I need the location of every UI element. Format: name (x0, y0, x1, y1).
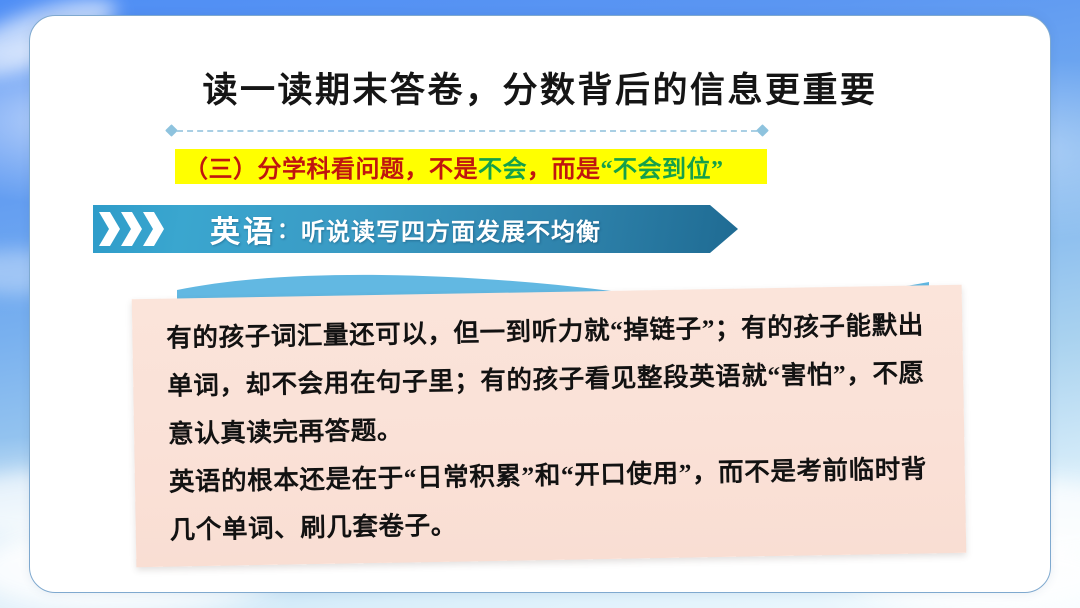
subject-banner: 英语 ： 听说读写四方面发展不均衡 (93, 205, 738, 253)
title-divider (167, 126, 767, 136)
banner-colon: ： (276, 213, 301, 245)
slide-canvas: 读一读期末答卷，分数背后的信息更重要 （三）分学科看问题，不是 不会 ，而是 “… (0, 0, 1080, 608)
banner-subject: 英语 (210, 207, 276, 251)
divider-dashed-line (177, 130, 757, 132)
page-title: 读一读期末答卷，分数背后的信息更重要 (30, 62, 1050, 113)
banner-description: 听说读写四方面发展不均衡 (301, 212, 601, 247)
subtitle-highlight-1: 不会 (478, 149, 527, 184)
body-paragraph-2: 英语的根本还是在于“日常积累”和“开口使用”，而不是考前临时背几个单词、刷几套卷… (169, 445, 945, 554)
subtitle-part-1: （三）分学科看问题，不是 (184, 149, 478, 184)
divider-cap-right-icon (756, 124, 769, 137)
content-card: 读一读期末答卷，分数背后的信息更重要 （三）分学科看问题，不是 不会 ，而是 “… (29, 15, 1051, 593)
divider-cap-left-icon (165, 124, 178, 137)
subtitle-highlight-band: （三）分学科看问题，不是 不会 ，而是 “不会到位” (175, 149, 767, 184)
banner-label: 英语 ： 听说读写四方面发展不均衡 (210, 205, 601, 253)
body-text: 有的孩子词汇量还可以，但一到听力就“掉链子”；有的孩子能默出单词，却不会用在句子… (166, 301, 944, 554)
subtitle-highlight-2: “不会到位” (601, 149, 724, 184)
body-text-card: 有的孩子词汇量还可以，但一到听力就“掉链子”；有的孩子能默出单词，却不会用在句子… (132, 285, 967, 567)
body-paragraph-1: 有的孩子词汇量还可以，但一到听力就“掉链子”；有的孩子能默出单词，却不会用在句子… (166, 301, 942, 458)
subtitle-part-2: ，而是 (527, 149, 601, 184)
